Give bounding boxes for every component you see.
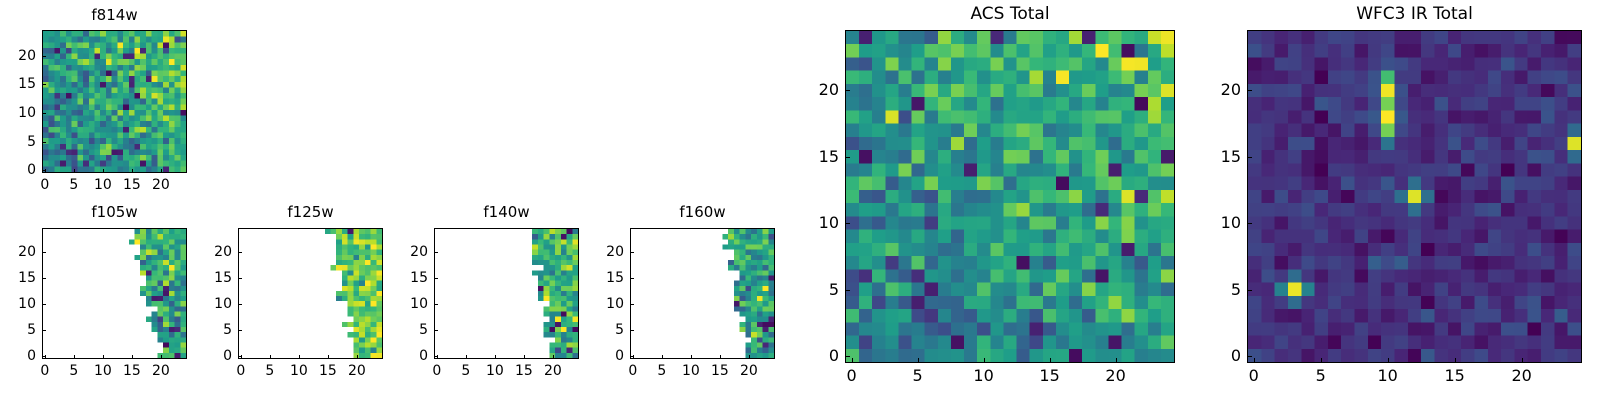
- yticklabel-wfc3-ir-total-2: 10: [1181, 215, 1241, 231]
- xtick-wfc3-ir-total-4: [1522, 358, 1523, 363]
- xticklabel-wfc3-ir-total-1: 5: [1291, 368, 1351, 384]
- heatmap-wfc3-ir-total: [1248, 31, 1581, 362]
- xticklabel-wfc3-ir-total-3: 15: [1425, 368, 1485, 384]
- panel-title-wfc3-ir-total: WFC3 IR Total: [1247, 6, 1582, 23]
- ytick-wfc3-ir-total-0: [1247, 356, 1252, 357]
- yticklabel-wfc3-ir-total-4: 20: [1181, 82, 1241, 98]
- xticklabel-wfc3-ir-total-4: 20: [1492, 368, 1552, 384]
- ytick-wfc3-ir-total-4: [1247, 90, 1252, 91]
- xtick-wfc3-ir-total-2: [1388, 358, 1389, 363]
- figure-canvas: f814w0510152005101520f105w05101520051015…: [0, 0, 1600, 400]
- xtick-wfc3-ir-total-0: [1254, 358, 1255, 363]
- xtick-wfc3-ir-total-1: [1321, 358, 1322, 363]
- xticklabel-wfc3-ir-total-0: 0: [1224, 368, 1284, 384]
- yticklabel-wfc3-ir-total-1: 5: [1181, 282, 1241, 298]
- ytick-wfc3-ir-total-2: [1247, 223, 1252, 224]
- panel-wfc3-ir-total: WFC3 IR Total0510152005101520: [0, 0, 1600, 400]
- plot-area-wfc3-ir-total: [1247, 30, 1582, 363]
- ytick-wfc3-ir-total-3: [1247, 157, 1252, 158]
- yticklabel-wfc3-ir-total-0: 0: [1181, 348, 1241, 364]
- yticklabel-wfc3-ir-total-3: 15: [1181, 149, 1241, 165]
- ytick-wfc3-ir-total-1: [1247, 290, 1252, 291]
- xtick-wfc3-ir-total-3: [1455, 358, 1456, 363]
- xticklabel-wfc3-ir-total-2: 10: [1358, 368, 1418, 384]
